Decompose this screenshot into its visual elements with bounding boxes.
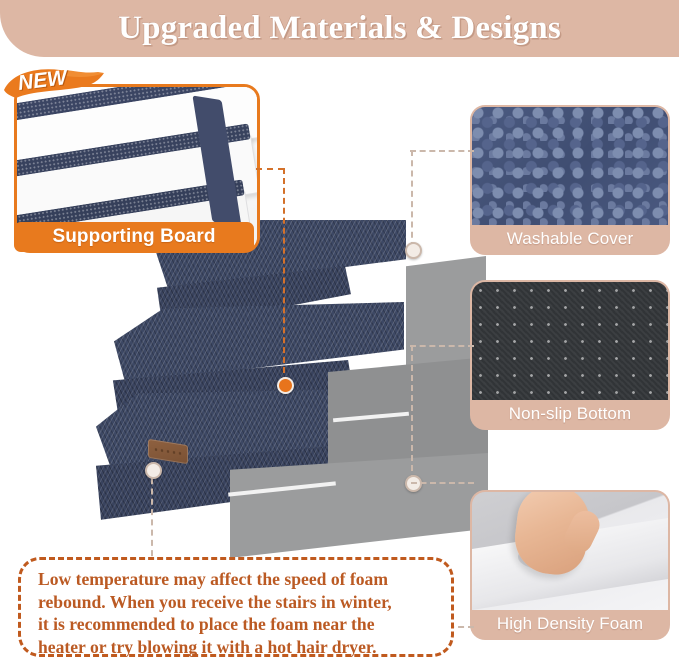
side-panel-lower xyxy=(230,453,488,558)
connector-supporting-board-v xyxy=(283,168,285,383)
page-title: Upgraded Materials & Designs xyxy=(0,0,679,57)
washable-cover-swatch xyxy=(472,107,668,225)
connector-supporting-board-h1 xyxy=(256,168,284,170)
connector-foam-h xyxy=(410,345,474,347)
connector-foam-v xyxy=(411,345,413,481)
warning-line-4: heater or try blowing it with a hot hair… xyxy=(38,636,437,659)
washable-cover-label: Washable Cover xyxy=(472,225,668,253)
warning-line-1: Low temperature may affect the speed of … xyxy=(38,568,437,591)
non-slip-bottom-label: Non-slip Bottom xyxy=(472,400,668,428)
warning-line-3: it is recommended to place the foam near… xyxy=(38,613,437,636)
supporting-board-label: Supporting Board xyxy=(14,222,254,252)
warning-box: Low temperature may affect the speed of … xyxy=(18,557,454,657)
connector-foam-h2 xyxy=(411,482,474,484)
feature-panel-non-slip-bottom: Non-slip Bottom xyxy=(472,282,668,428)
non-slip-bottom-swatch xyxy=(472,282,668,400)
connector-dot-supporting-board xyxy=(277,377,294,394)
connector-dot-washable-cover xyxy=(405,242,422,259)
infographic-root: Upgraded Materials & Designs xyxy=(0,0,679,671)
brand-logo-icon xyxy=(153,446,183,458)
connector-dot-non-slip xyxy=(145,462,162,479)
connector-washable-cover-h xyxy=(410,150,474,152)
feature-panel-washable-cover: Washable Cover xyxy=(472,107,668,253)
high-density-foam-swatch xyxy=(472,492,668,610)
connector-washable-cover-v xyxy=(411,150,413,248)
high-density-foam-label: High Density Foam xyxy=(472,610,668,638)
warning-line-2: rebound. When you receive the stairs in … xyxy=(38,591,437,614)
feature-panel-high-density-foam: High Density Foam xyxy=(472,492,668,638)
